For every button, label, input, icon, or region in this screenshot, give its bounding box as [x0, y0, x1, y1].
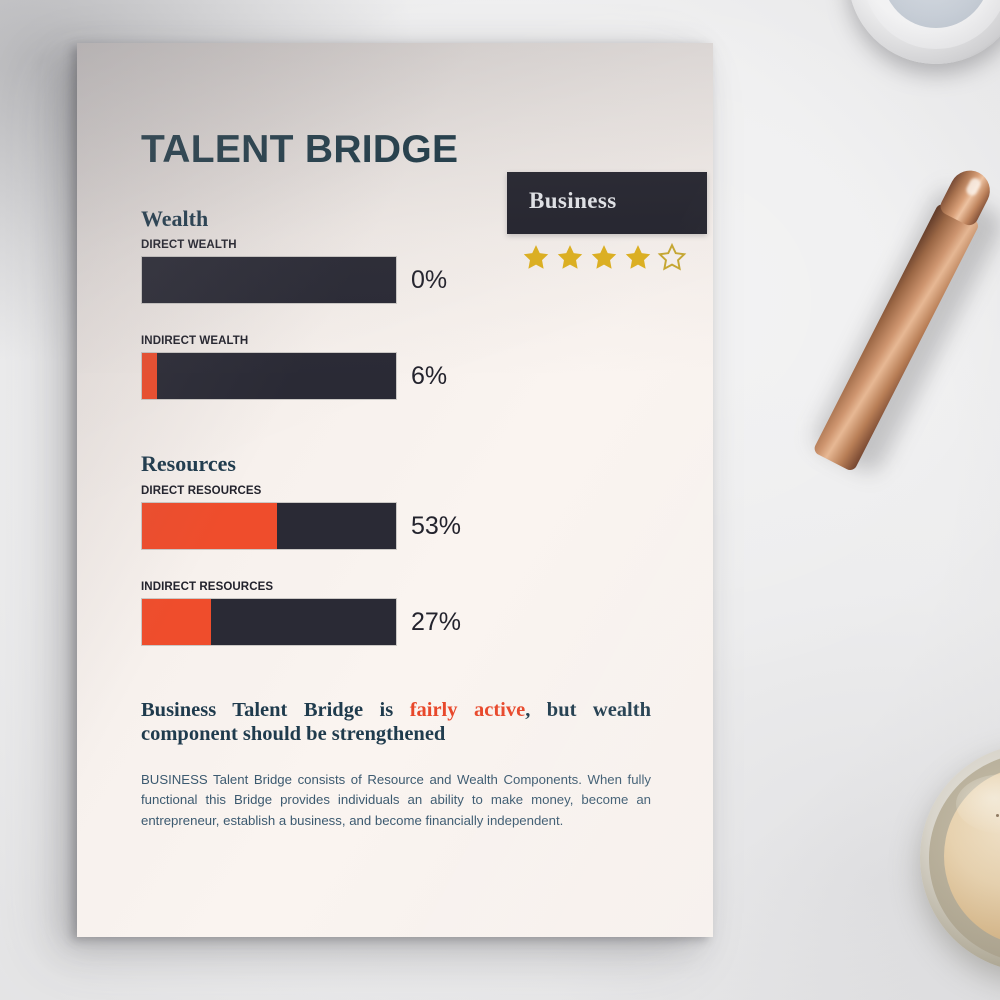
metric-indirect-wealth: INDIRECT WEALTH 6%	[141, 335, 661, 400]
verdict-statement: Business Talent Bridge is fairly active,…	[141, 698, 651, 746]
section-heading-wealth: Wealth	[141, 206, 208, 232]
metric-direct-resources: DIRECT RESOURCES 53%	[141, 485, 661, 550]
scene: TALENT BRIDGE Business	[0, 0, 1000, 1000]
metric-direct-wealth: DIRECT WEALTH 0%	[141, 239, 661, 304]
metric-value: 53%	[411, 512, 461, 541]
category-badge-label: Business	[529, 188, 617, 214]
progress-bar-indirect-resources	[141, 598, 397, 646]
metric-label: INDIRECT RESOURCES	[141, 581, 661, 593]
progress-fill	[142, 353, 157, 399]
metric-label: DIRECT RESOURCES	[141, 485, 661, 497]
progress-bar-direct-wealth	[141, 256, 397, 304]
section-heading-resources: Resources	[141, 451, 236, 477]
category-badge: Business	[507, 172, 707, 234]
metric-value: 0%	[411, 266, 447, 295]
progress-fill	[142, 599, 211, 645]
description-paragraph: BUSINESS Talent Bridge consists of Resou…	[141, 770, 651, 831]
poster-sheet: TALENT BRIDGE Business	[77, 43, 713, 937]
progress-bar-indirect-wealth	[141, 352, 397, 400]
metric-indirect-resources: INDIRECT RESOURCES 27%	[141, 581, 661, 646]
metric-value: 6%	[411, 362, 447, 391]
metric-value: 27%	[411, 608, 461, 637]
progress-bar-direct-resources	[141, 502, 397, 550]
verdict-highlight: fairly active	[410, 699, 526, 721]
progress-fill	[142, 503, 277, 549]
page-title: TALENT BRIDGE	[141, 128, 458, 172]
star-icon-5-empty	[657, 243, 687, 272]
metric-label: DIRECT WEALTH	[141, 239, 661, 251]
verdict-lead: Business Talent Bridge is	[141, 699, 410, 721]
metric-label: INDIRECT WEALTH	[141, 335, 661, 347]
